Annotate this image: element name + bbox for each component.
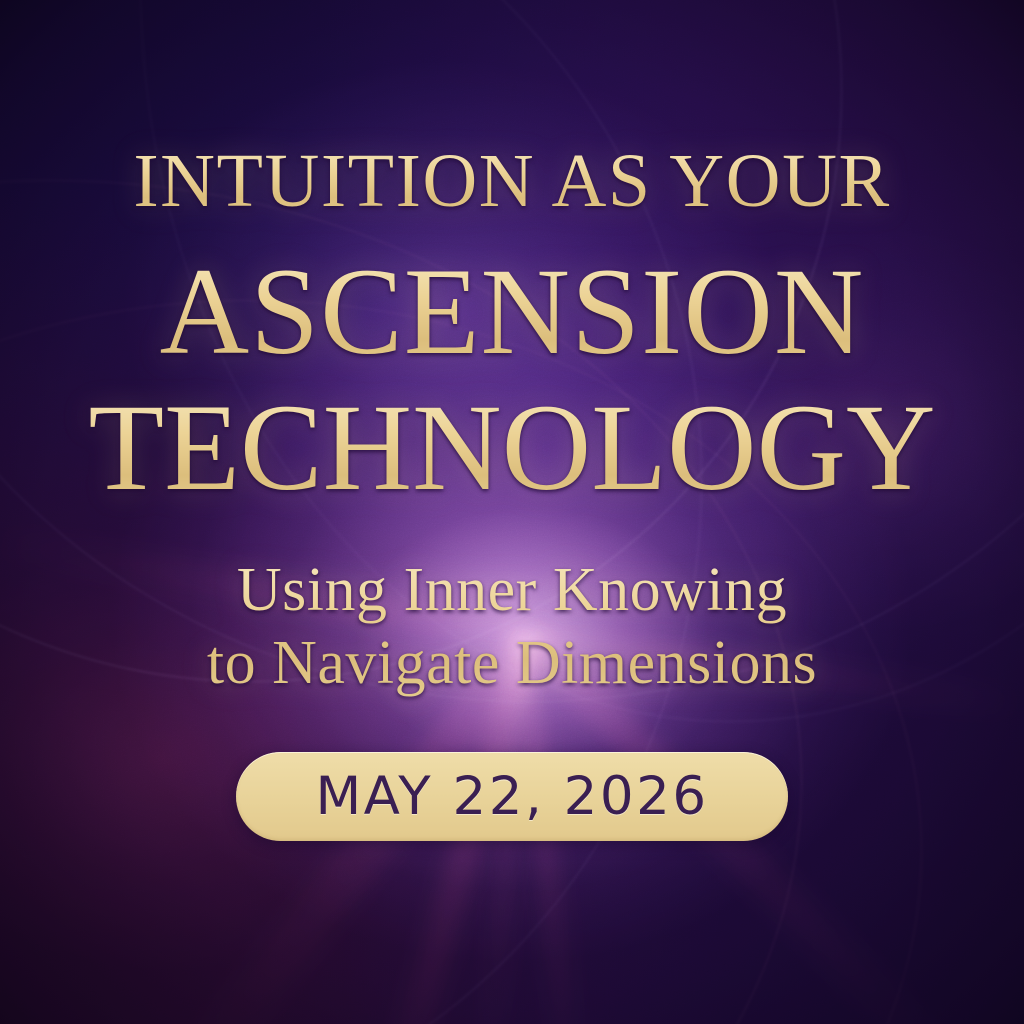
subtitle: Using Inner Knowing to Navigate Dimensio…: [207, 554, 817, 700]
subtitle-line-2: to Navigate Dimensions: [207, 627, 817, 700]
page-title-line-1: ASCENSION: [160, 250, 865, 374]
poster-content: INTUITION AS YOUR ASCENSION TECHNOLOGY U…: [0, 0, 1024, 1024]
page-title-line-2: TECHNOLOGY: [88, 386, 935, 510]
subtitle-line-1: Using Inner Knowing: [207, 554, 817, 627]
date-badge[interactable]: MAY 22, 2026: [236, 752, 788, 841]
kicker-line: INTUITION AS YOUR: [133, 143, 890, 219]
date-badge-label: MAY 22, 2026: [315, 766, 708, 827]
promo-poster: INTUITION AS YOUR ASCENSION TECHNOLOGY U…: [0, 0, 1024, 1024]
